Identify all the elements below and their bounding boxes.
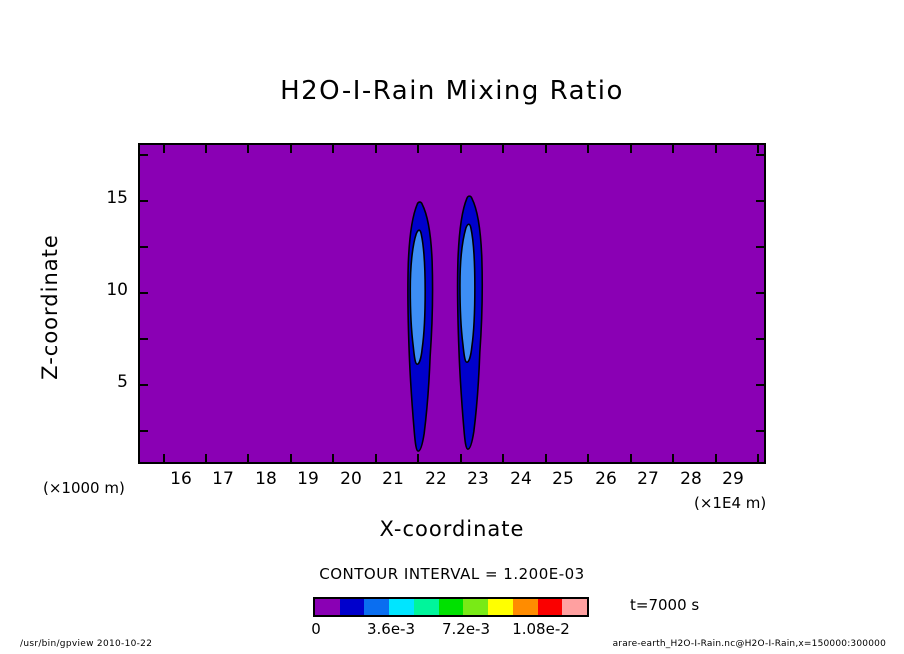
tick-x-top	[757, 145, 759, 153]
colorbar-swatch	[488, 599, 513, 615]
tick-x-top	[630, 145, 632, 153]
x-tick-label: 18	[246, 469, 286, 489]
x-axis-unit-label: (×1E4 m)	[694, 494, 766, 512]
tick-x-top	[502, 145, 504, 153]
tick-x-top	[672, 145, 674, 153]
colorbar-swatch	[513, 599, 538, 615]
tick-x-bottom	[545, 454, 547, 462]
x-tick-label: 22	[416, 469, 456, 489]
y-axis-unit-label: (×1000 m)	[43, 479, 125, 497]
x-tick-label: 25	[543, 469, 583, 489]
tick-x-bottom	[715, 454, 717, 462]
x-tick-label: 21	[373, 469, 413, 489]
colorbar-tick-label: 0	[276, 620, 356, 638]
tick-y-left	[140, 292, 148, 294]
tick-x-bottom	[630, 454, 632, 462]
x-tick-label: 29	[713, 469, 753, 489]
x-tick-label: 16	[161, 469, 201, 489]
tick-y-left	[140, 154, 148, 156]
contour-plot-area	[138, 143, 766, 464]
tick-x-bottom	[290, 454, 292, 462]
x-tick-label: 17	[203, 469, 243, 489]
tick-y-left	[140, 338, 148, 340]
tick-y-left	[140, 430, 148, 432]
contour-background	[140, 145, 764, 462]
tick-x-top	[417, 145, 419, 153]
tick-x-top	[545, 145, 547, 153]
tick-x-bottom	[587, 454, 589, 462]
y-tick-label: 10	[88, 280, 128, 300]
x-tick-label: 27	[628, 469, 668, 489]
tick-x-bottom	[460, 454, 462, 462]
tick-y-right	[756, 200, 764, 202]
tick-x-bottom	[375, 454, 377, 462]
colorbar-swatch	[389, 599, 414, 615]
contour-interval-label: CONTOUR INTERVAL = 1.200E-03	[0, 565, 904, 583]
tick-x-bottom	[672, 454, 674, 462]
tick-x-bottom	[163, 454, 165, 462]
colorbar-swatch	[414, 599, 439, 615]
tick-x-bottom	[247, 454, 249, 462]
colorbar	[313, 597, 589, 617]
tick-x-top	[460, 145, 462, 153]
tick-y-left	[140, 246, 148, 248]
x-tick-label: 19	[288, 469, 328, 489]
tick-x-top	[332, 145, 334, 153]
x-tick-label: 24	[501, 469, 541, 489]
tick-x-bottom	[332, 454, 334, 462]
tick-y-left	[140, 384, 148, 386]
x-tick-label: 20	[331, 469, 371, 489]
tick-y-right	[756, 338, 764, 340]
x-tick-label: 28	[671, 469, 711, 489]
tick-y-right	[756, 430, 764, 432]
y-tick-label: 15	[88, 188, 128, 208]
x-tick-label: 23	[458, 469, 498, 489]
time-label: t=7000 s	[630, 596, 699, 614]
tick-y-right	[756, 384, 764, 386]
tick-x-bottom	[205, 454, 207, 462]
tick-x-top	[587, 145, 589, 153]
colorbar-tick-label: 7.2e-3	[426, 620, 506, 638]
colorbar-swatch	[340, 599, 365, 615]
colorbar-tick-label: 3.6e-3	[351, 620, 431, 638]
x-tick-label: 26	[586, 469, 626, 489]
tick-y-right	[756, 154, 764, 156]
y-tick-label: 5	[88, 372, 128, 392]
page-title: H2O-I-Rain Mixing Ratio	[0, 76, 904, 106]
tick-x-top	[715, 145, 717, 153]
tick-x-top	[163, 145, 165, 153]
tick-x-top	[205, 145, 207, 153]
tick-x-bottom	[757, 454, 759, 462]
footer-source-label: arare-earth_H2O-I-Rain.nc@H2O-I-Rain,x=1…	[613, 639, 886, 649]
footer-command-label: /usr/bin/gpview 2010-10-22	[20, 639, 152, 649]
tick-x-bottom	[417, 454, 419, 462]
tick-x-top	[290, 145, 292, 153]
colorbar-swatch	[538, 599, 563, 615]
contour-band-left-inner	[410, 230, 425, 364]
colorbar-swatch	[315, 599, 340, 615]
colorbar-swatch	[562, 599, 587, 615]
tick-y-left	[140, 200, 148, 202]
tick-y-right	[756, 292, 764, 294]
colorbar-swatch	[364, 599, 389, 615]
x-axis-title: X-coordinate	[0, 517, 904, 541]
colorbar-tick-label: 1.08e-2	[501, 620, 581, 638]
tick-x-top	[247, 145, 249, 153]
tick-y-right	[756, 246, 764, 248]
y-axis-title: Z-coordinate	[38, 197, 62, 417]
tick-x-top	[375, 145, 377, 153]
colorbar-swatch	[463, 599, 488, 615]
tick-x-bottom	[502, 454, 504, 462]
contour-field	[140, 145, 764, 462]
contour-band-right-inner	[460, 224, 475, 362]
colorbar-swatch	[439, 599, 464, 615]
